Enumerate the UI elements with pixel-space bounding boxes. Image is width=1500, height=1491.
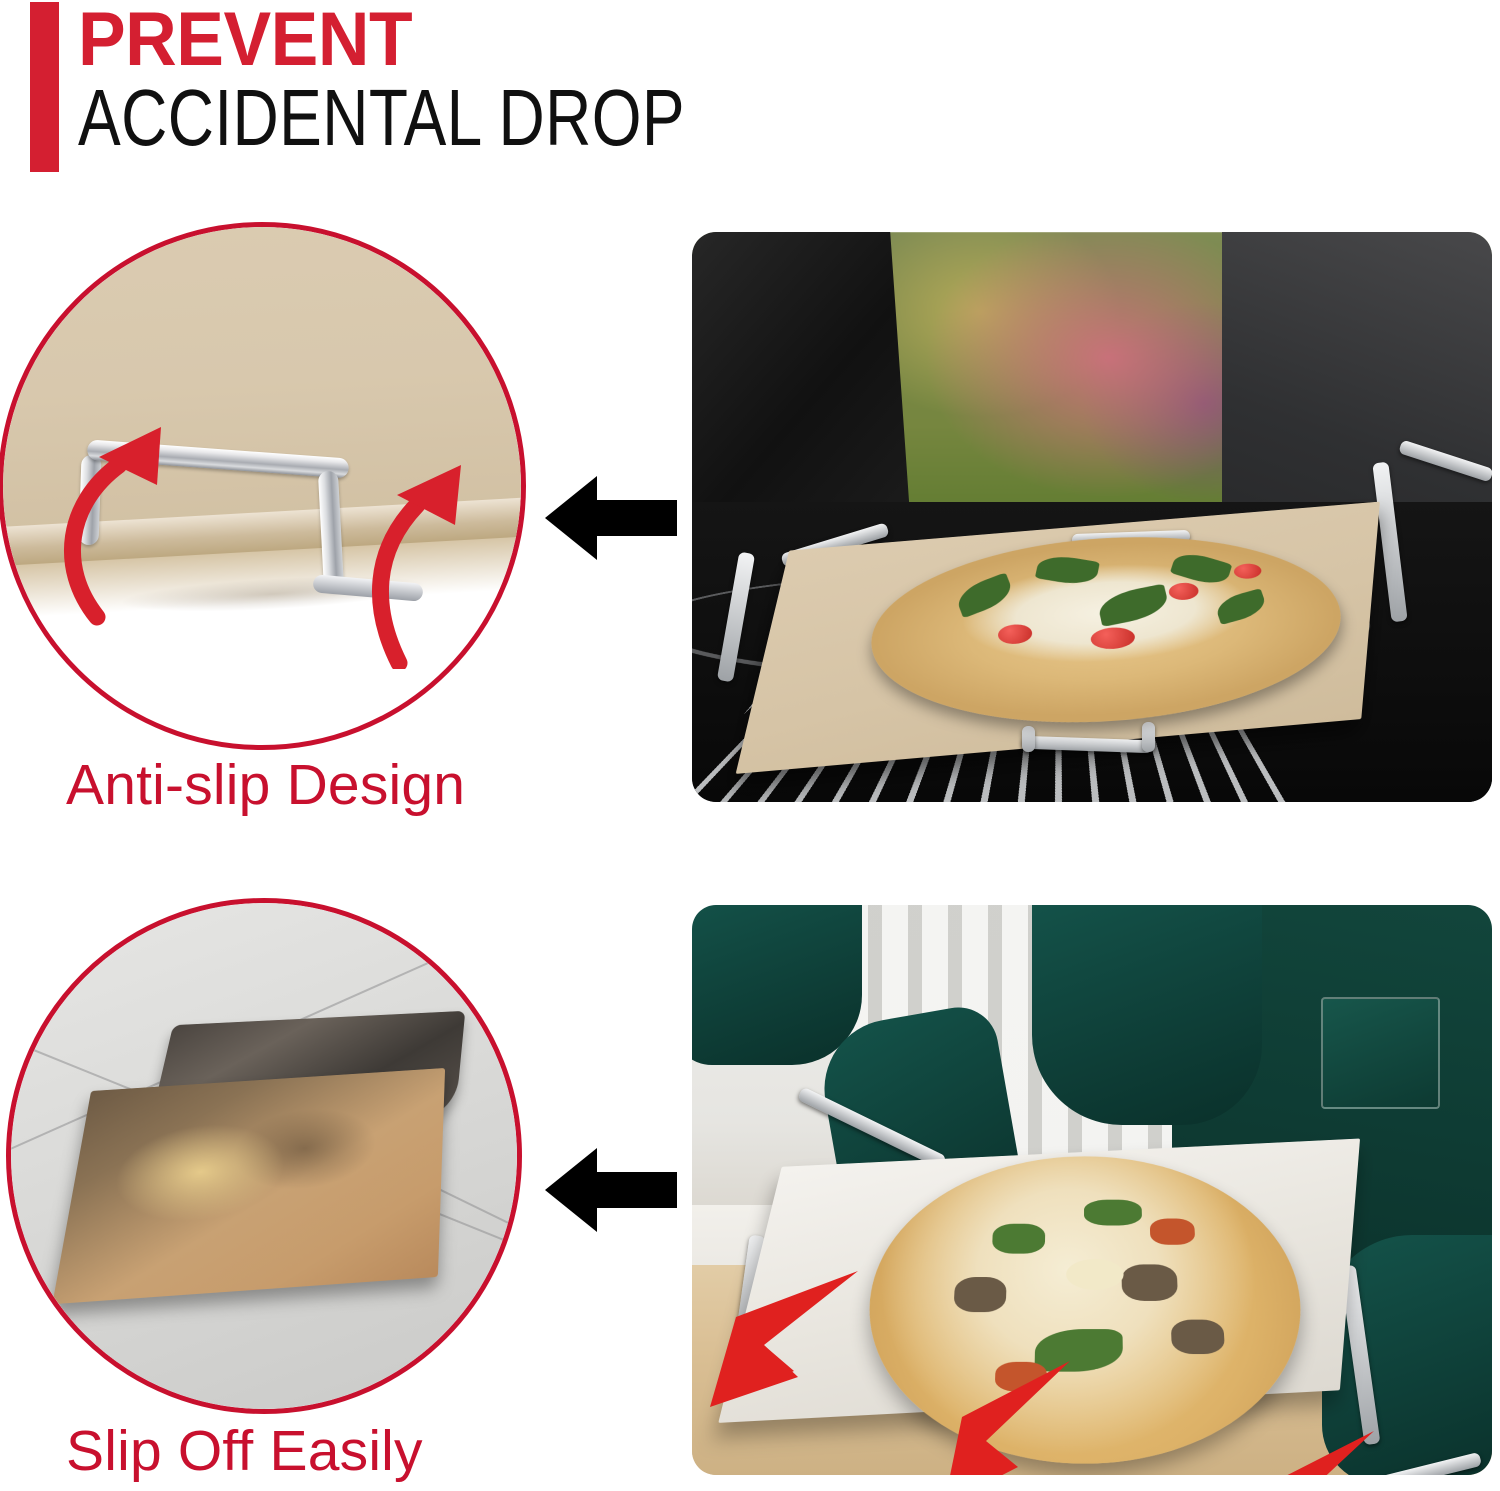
lift-arrow-right-icon [335, 439, 505, 669]
mushroom-slice [953, 1277, 1006, 1312]
lift-arrow-left-icon [43, 407, 213, 627]
feature-photo-anti-slip [692, 232, 1492, 802]
slide-arrow-1-icon [706, 1265, 876, 1415]
melted-cheese [1066, 1259, 1124, 1290]
mushroom-slice [1171, 1320, 1225, 1354]
apron-label-tag [1321, 997, 1440, 1109]
green-pepper [992, 1224, 1045, 1254]
tomato-slice [998, 623, 1033, 645]
circle-illustration-anti-slip [3, 227, 521, 745]
feature-caption-anti-slip: Anti-slip Design [66, 752, 465, 818]
basil-leaf [1213, 588, 1268, 625]
tomato-slice [1090, 626, 1136, 650]
feature-caption-slip-off: Slip Off Easily [66, 1418, 423, 1484]
pointer-arrow-left-icon-bottom [545, 1148, 677, 1232]
slide-arrow-3-icon [1238, 1425, 1398, 1475]
green-mitt-top-left [692, 905, 862, 1065]
tomato-sauce-patch [1150, 1219, 1196, 1245]
rack-clip-front-right [1142, 722, 1155, 752]
headline-secondary: ACCIDENTAL DROP [78, 76, 1038, 160]
feature-circle-anti-slip [0, 222, 526, 750]
pointer-arrow-left-icon-top [545, 476, 677, 560]
header: PREVENT ACCIDENTAL DROP [0, 0, 1500, 200]
red-accent-bar [30, 2, 59, 172]
basil-leaf [1096, 584, 1171, 627]
basil-leaf [954, 572, 1016, 618]
circle-illustration-slip-off [11, 903, 517, 1409]
headline-primary: PREVENT [78, 0, 1206, 76]
feature-circle-slip-off [6, 898, 522, 1414]
tomato-slice [1233, 563, 1262, 580]
green-sleeve-center [1032, 905, 1262, 1125]
headline-block: PREVENT ACCIDENTAL DROP [78, 0, 1278, 160]
green-pepper [1084, 1200, 1142, 1226]
burnt-pizza-stone [52, 1068, 445, 1304]
slide-arrow-2-icon [942, 1355, 1092, 1475]
rack-clip-front-left [1022, 726, 1035, 752]
feature-photo-slip-off [692, 905, 1492, 1475]
mushroom-slice [1121, 1264, 1178, 1301]
tomato-slice [1168, 582, 1199, 601]
basil-leaf [1035, 552, 1100, 588]
